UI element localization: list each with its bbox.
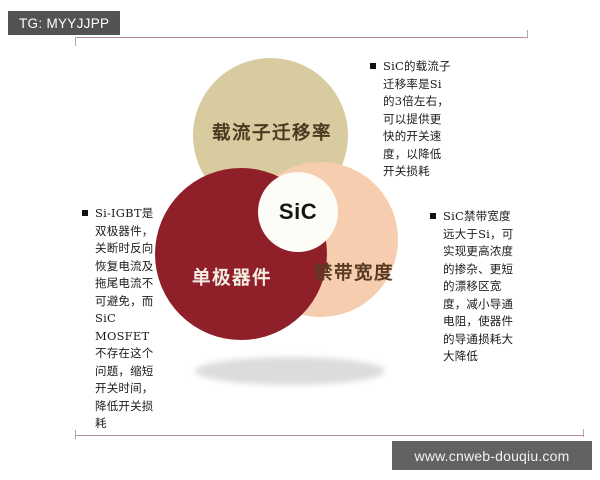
venn-circle-unipolar-device <box>155 168 327 340</box>
note-band-gap-text: SiC禁带宽度远大于Si，可实现更高浓度的掺杂、更短的漂移区宽度，减小导通电阻，… <box>430 208 516 366</box>
bottom-rule-right-cap <box>583 429 584 437</box>
top-divider-rule <box>76 37 528 38</box>
venn-core-node: SiC <box>258 172 338 252</box>
note-carrier-mobility-text: SiC的载流子迁移率是Si的3倍左右，可以提供更快的开关速度，以降低开关损耗 <box>370 58 452 181</box>
bottom-divider-rule <box>76 435 584 436</box>
venn-label-carrier-mobility: 载流子迁移率 <box>212 119 332 145</box>
bottom-rule-left-cap <box>75 430 76 439</box>
site-watermark: www.cnweb-douqiu.com <box>392 441 592 470</box>
note-carrier-mobility: SiC的载流子迁移率是Si的3倍左右，可以提供更快的开关速度，以降低开关损耗 <box>370 58 452 181</box>
venn-label-band-gap: 禁带宽度 <box>314 259 394 285</box>
bullet-square-icon <box>430 213 436 219</box>
venn-core-label: SiC <box>279 199 317 225</box>
top-rule-right-cap <box>527 30 528 38</box>
diagram-drop-shadow <box>195 357 385 385</box>
venn-circle-band-gap <box>243 162 398 317</box>
note-unipolar-device-text: Si-IGBT是双极器件，关断时反向恢复电流及拖尾电流不可避免，而SiC MOS… <box>82 205 154 433</box>
note-unipolar-device: Si-IGBT是双极器件，关断时反向恢复电流及拖尾电流不可避免，而SiC MOS… <box>82 205 154 433</box>
venn-label-unipolar-device: 单极器件 <box>192 264 272 290</box>
tg-channel-tag: TG: MYYJJPP <box>8 11 120 35</box>
slide-canvas: SiC 载流子迁移率 单极器件 禁带宽度 SiC的载流子迁移率是Si的3倍左右，… <box>0 0 600 480</box>
note-band-gap: SiC禁带宽度远大于Si，可实现更高浓度的掺杂、更短的漂移区宽度，减小导通电阻，… <box>430 208 516 366</box>
bullet-square-icon <box>82 210 88 216</box>
top-rule-left-cap <box>75 37 76 46</box>
bullet-square-icon <box>370 63 376 69</box>
